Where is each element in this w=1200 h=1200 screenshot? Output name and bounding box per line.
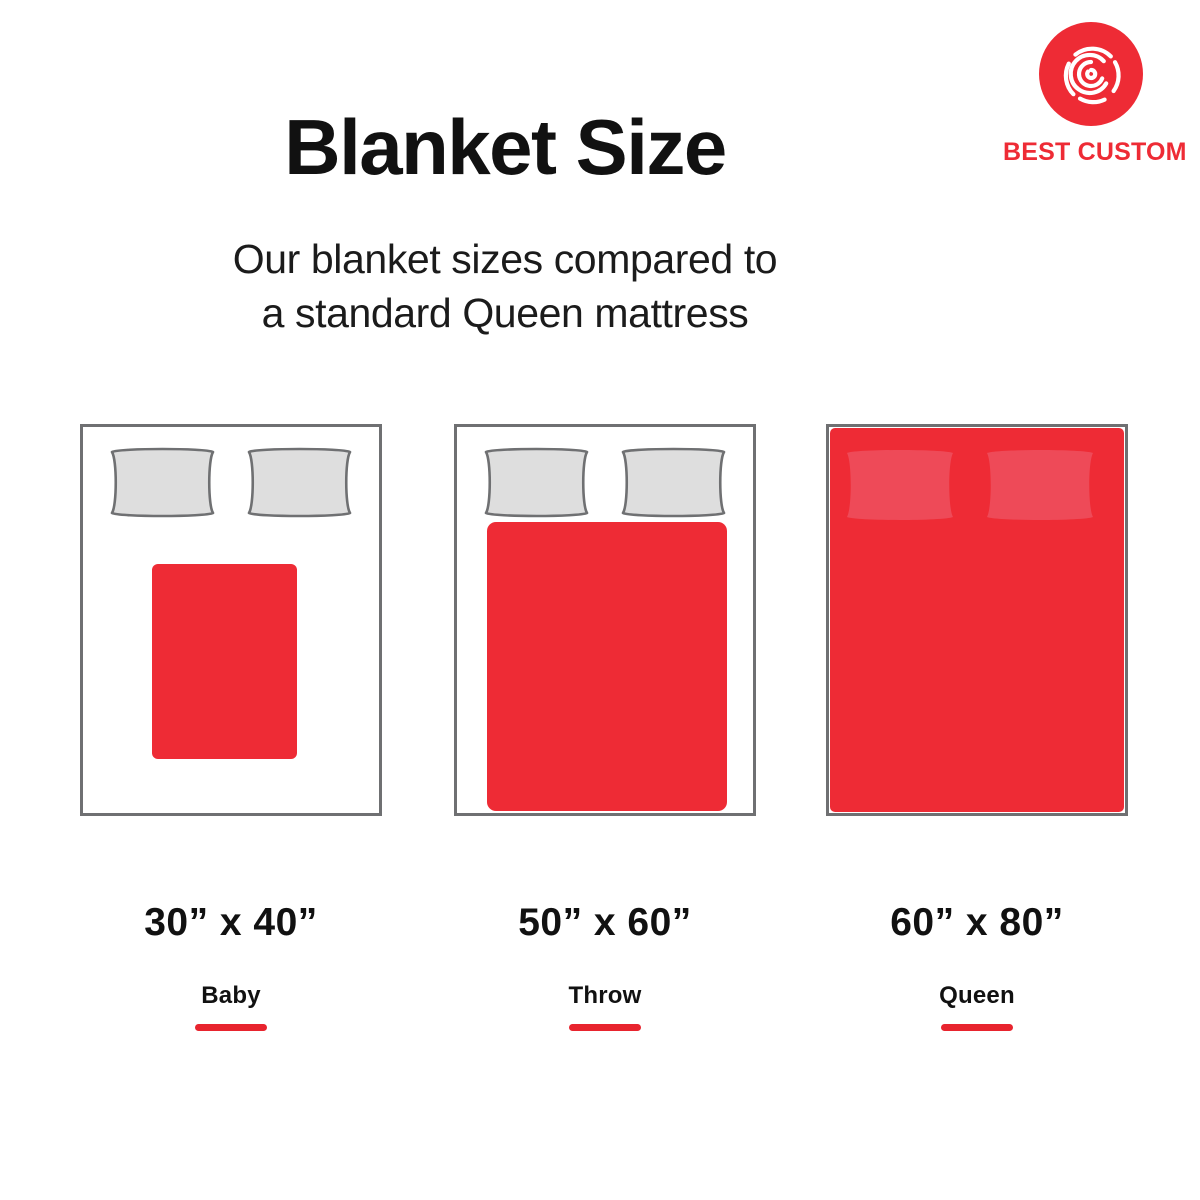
accent-underline [941,1024,1013,1031]
pillow-icon [245,446,354,519]
blanket-shape [830,428,1124,812]
blanket-shape [487,522,727,811]
bed-caption-queen: 60” x 80” Queen [826,900,1128,1031]
subtitle-line-2: a standard Queen mattress [0,286,1010,340]
pillow-icon [108,446,217,519]
bed-diagram-throw [454,424,756,816]
accent-underline [569,1024,641,1031]
pillow-icon [619,446,728,519]
size-name-label: Throw [454,982,756,1010]
bed-diagram-baby [80,424,382,816]
blanket-size-infographic: BEST CUSTOM Blanket Size Our blanket siz… [0,0,1200,1200]
pillow-icon [482,446,591,519]
page-title: Blanket Size [0,104,1200,190]
dimensions-label: 50” x 60” [454,900,756,946]
bed-caption-throw: 50” x 60” Throw [454,900,756,1031]
dimensions-label: 60” x 80” [826,900,1128,946]
dimensions-label: 30” x 40” [80,900,382,946]
accent-underline [195,1024,267,1031]
mattress-outline [826,424,1128,816]
subtitle-line-1: Our blanket sizes compared to [0,232,1010,286]
blanket-shape [152,564,297,759]
mattress-outline [80,424,382,816]
mattress-surface [457,427,753,813]
size-name-label: Baby [80,982,382,1010]
mattress-surface [829,427,1125,813]
mattress-outline [454,424,756,816]
pillow-icon [982,446,1098,524]
page-subtitle: Our blanket sizes compared to a standard… [0,232,1200,340]
bed-diagram-queen [826,424,1128,816]
mattress-surface [83,427,379,813]
size-name-label: Queen [826,982,1128,1010]
bed-caption-baby: 30” x 40” Baby [80,900,382,1031]
pillow-icon [842,446,958,524]
